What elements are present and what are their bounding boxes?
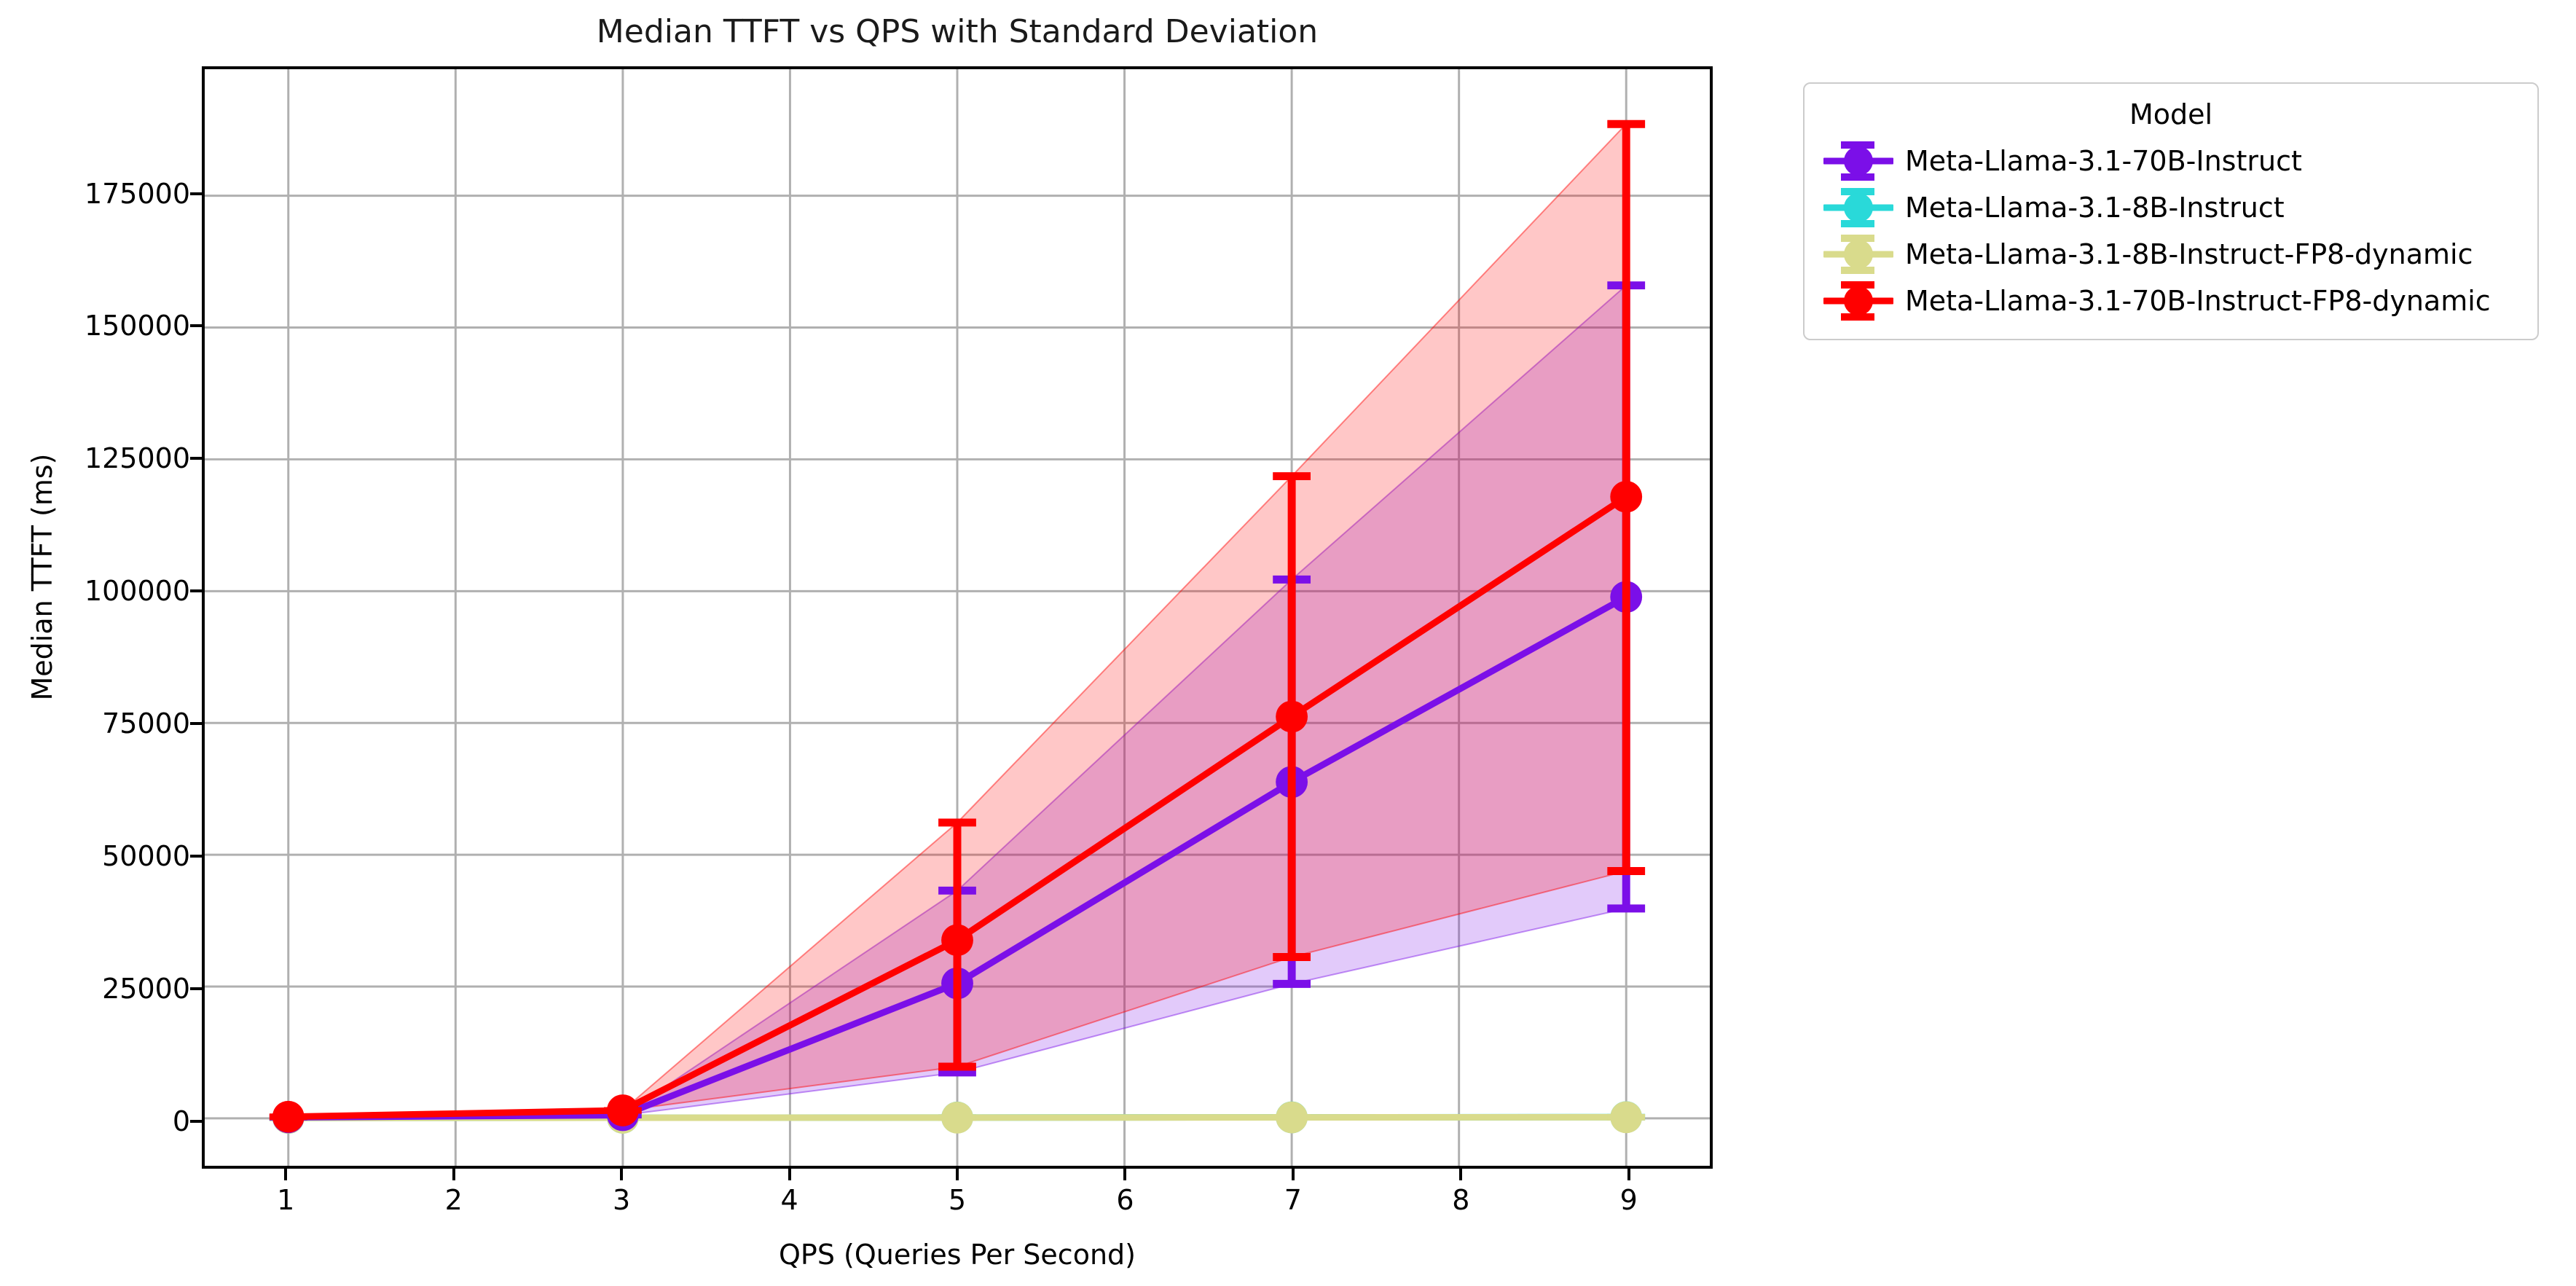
y-tick-label: 0 bbox=[173, 1105, 190, 1137]
x-tick-label: 6 bbox=[1116, 1184, 1134, 1216]
chart-title: Median TTFT vs QPS with Standard Deviati… bbox=[202, 13, 1713, 50]
x-tick-label: 8 bbox=[1452, 1184, 1469, 1216]
x-tick-label: 1 bbox=[277, 1184, 294, 1216]
data-point bbox=[941, 924, 973, 956]
data-point bbox=[607, 1094, 639, 1126]
y-tick-label: 25000 bbox=[102, 973, 190, 1005]
x-tick-label: 5 bbox=[949, 1184, 966, 1216]
legend-item[interactable]: Meta-Llama-3.1-8B-Instruct bbox=[1823, 184, 2518, 231]
x-tick-mark bbox=[788, 1169, 791, 1180]
data-point bbox=[272, 1101, 305, 1133]
plot-area bbox=[202, 66, 1713, 1169]
legend-item-label: Meta-Llama-3.1-70B-Instruct-FP8-dynamic bbox=[1905, 287, 2491, 315]
data-point bbox=[1276, 701, 1308, 733]
data-point bbox=[1610, 1101, 1642, 1133]
plot-inner bbox=[205, 69, 1710, 1166]
y-tick-mark bbox=[190, 855, 202, 858]
x-tick-label: 2 bbox=[445, 1184, 463, 1216]
legend-title: Model bbox=[1823, 98, 2518, 130]
legend-items: Meta-Llama-3.1-70B-InstructMeta-Llama-3.… bbox=[1823, 138, 2518, 324]
y-tick-label: 50000 bbox=[102, 840, 190, 872]
x-tick-label: 9 bbox=[1620, 1184, 1638, 1216]
y-tick-mark bbox=[190, 324, 202, 327]
x-tick-mark bbox=[956, 1169, 959, 1180]
x-tick-mark bbox=[620, 1169, 623, 1180]
legend-marker-icon bbox=[1823, 233, 1893, 275]
legend-item-label: Meta-Llama-3.1-8B-Instruct bbox=[1905, 194, 2285, 221]
y-tick-label: 175000 bbox=[85, 178, 190, 210]
x-tick-label: 4 bbox=[780, 1184, 798, 1216]
data-point bbox=[1610, 481, 1642, 513]
legend-marker-icon bbox=[1823, 140, 1893, 182]
y-tick-mark bbox=[190, 192, 202, 195]
x-tick-label: 7 bbox=[1284, 1184, 1302, 1216]
data-point bbox=[941, 1102, 973, 1134]
data-point bbox=[1276, 1102, 1308, 1134]
x-tick-mark bbox=[1292, 1169, 1295, 1180]
x-tick-mark bbox=[1459, 1169, 1462, 1180]
x-tick-mark bbox=[452, 1169, 455, 1180]
legend-marker-icon bbox=[1823, 187, 1893, 229]
legend-item[interactable]: Meta-Llama-3.1-8B-Instruct-FP8-dynamic bbox=[1823, 231, 2518, 278]
y-axis-label: Median TTFT (ms) bbox=[26, 351, 58, 803]
x-axis-label: QPS (Queries Per Second) bbox=[202, 1239, 1713, 1271]
legend-item-label: Meta-Llama-3.1-8B-Instruct-FP8-dynamic bbox=[1905, 240, 2473, 268]
y-tick-mark bbox=[190, 1120, 202, 1123]
y-tick-label: 75000 bbox=[102, 707, 190, 740]
legend-item[interactable]: Meta-Llama-3.1-70B-Instruct bbox=[1823, 138, 2518, 184]
chart-figure: Median TTFT vs QPS with Standard Deviati… bbox=[0, 0, 2576, 1286]
legend-marker-icon bbox=[1823, 280, 1893, 322]
legend-item[interactable]: Meta-Llama-3.1-70B-Instruct-FP8-dynamic bbox=[1823, 278, 2518, 324]
y-tick-label: 125000 bbox=[85, 442, 190, 474]
y-tick-label: 100000 bbox=[85, 575, 190, 607]
x-tick-label: 3 bbox=[613, 1184, 630, 1216]
plot-canvas bbox=[205, 69, 1710, 1166]
legend-item-label: Meta-Llama-3.1-70B-Instruct bbox=[1905, 147, 2302, 175]
y-tick-mark bbox=[190, 722, 202, 725]
y-tick-mark bbox=[190, 987, 202, 990]
legend: Model Meta-Llama-3.1-70B-InstructMeta-Ll… bbox=[1803, 82, 2539, 340]
y-tick-mark bbox=[190, 589, 202, 592]
x-tick-mark bbox=[1123, 1169, 1126, 1180]
x-tick-mark bbox=[1627, 1169, 1630, 1180]
y-tick-label: 150000 bbox=[85, 310, 190, 342]
y-tick-mark bbox=[190, 457, 202, 460]
x-tick-mark bbox=[284, 1169, 287, 1180]
